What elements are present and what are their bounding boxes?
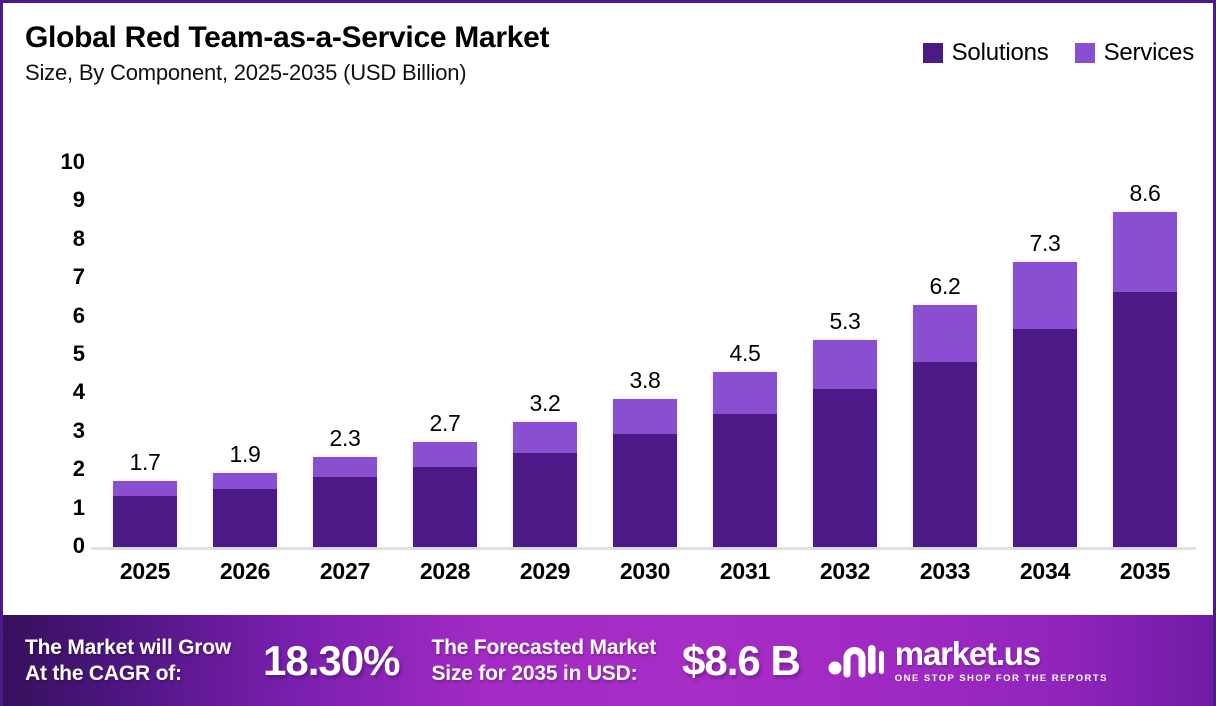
- x-axis-tick-2033: 2033: [900, 558, 990, 585]
- bar-stack-2026[interactable]: [213, 473, 277, 547]
- bar-group-2026[interactable]: 1.9: [200, 133, 290, 547]
- bar-stack-2034[interactable]: [1013, 262, 1077, 547]
- y-axis: 109876543210: [43, 133, 85, 558]
- logo-tagline: ONE STOP SHOP FOR THE REPORTS: [895, 674, 1108, 684]
- bar-segment-solutions-2034[interactable]: [1013, 329, 1077, 547]
- bar-stack-2025[interactable]: [113, 481, 177, 547]
- bar-segment-services-2025[interactable]: [113, 481, 177, 497]
- forecast-caption-line2: Size for 2035 in USD:: [432, 661, 657, 687]
- bar-value-label-2029: 3.2: [529, 392, 560, 415]
- y-axis-tick-10: 10: [61, 151, 85, 173]
- bar-group-2035[interactable]: 8.6: [1100, 133, 1190, 547]
- bar-segment-services-2028[interactable]: [413, 442, 477, 467]
- bar-value-label-2035: 8.6: [1129, 182, 1160, 205]
- chart-plot-area: 109876543210 1.71.92.32.73.23.84.55.36.2…: [3, 133, 1216, 603]
- chart-legend: Solutions Services: [923, 39, 1194, 67]
- bar-segment-solutions-2030[interactable]: [613, 434, 677, 547]
- bar-group-2028[interactable]: 2.7: [400, 133, 490, 547]
- bar-value-label-2027: 2.3: [329, 427, 360, 450]
- bar-value-label-2028: 2.7: [429, 412, 460, 435]
- bar-stack-2030[interactable]: [613, 399, 677, 547]
- bar-series-container: 1.71.92.32.73.23.84.55.36.27.38.6: [95, 133, 1195, 547]
- y-axis-tick-2: 2: [73, 458, 85, 480]
- y-axis-tick-4: 4: [73, 381, 85, 403]
- x-axis-tick-2032: 2032: [800, 558, 890, 585]
- x-axis-baseline: [91, 547, 1196, 550]
- market-us-logo[interactable]: market.us ONE STOP SHOP FOR THE REPORTS: [828, 637, 1108, 684]
- forecast-caption: The Forecasted Market Size for 2035 in U…: [432, 635, 657, 686]
- y-axis-tick-3: 3: [73, 420, 85, 442]
- chart-header: Global Red Team-as-a-Service Market Size…: [3, 3, 1216, 123]
- bar-segment-solutions-2026[interactable]: [213, 489, 277, 548]
- bar-segment-services-2032[interactable]: [813, 340, 877, 389]
- legend-swatch-solutions: [923, 43, 943, 63]
- bar-value-label-2025: 1.7: [129, 451, 160, 474]
- bar-segment-services-2033[interactable]: [913, 305, 977, 362]
- page-title: Global Red Team-as-a-Service Market: [25, 21, 549, 56]
- logo-wordmark: market.us: [895, 637, 1040, 670]
- x-axis-tick-2034: 2034: [1000, 558, 1090, 585]
- cagr-caption: The Market will Grow At the CAGR of:: [25, 635, 231, 686]
- bar-segment-solutions-2032[interactable]: [813, 389, 877, 547]
- x-axis-tick-2030: 2030: [600, 558, 690, 585]
- x-axis-tick-2025: 2025: [100, 558, 190, 585]
- forecast-value: $8.6 B: [682, 637, 800, 685]
- bar-group-2034[interactable]: 7.3: [1000, 133, 1090, 547]
- chart-infographic: Global Red Team-as-a-Service Market Size…: [0, 0, 1216, 706]
- bar-value-label-2033: 6.2: [929, 275, 960, 298]
- y-axis-tick-7: 7: [73, 266, 85, 288]
- bar-value-label-2031: 4.5: [729, 342, 760, 365]
- legend-item-services[interactable]: Services: [1075, 39, 1194, 67]
- bar-segment-solutions-2033[interactable]: [913, 362, 977, 547]
- legend-label-solutions: Solutions: [952, 39, 1049, 67]
- bar-group-2027[interactable]: 2.3: [300, 133, 390, 547]
- bar-group-2030[interactable]: 3.8: [600, 133, 690, 547]
- y-axis-tick-6: 6: [73, 305, 85, 327]
- bar-segment-services-2034[interactable]: [1013, 262, 1077, 328]
- y-axis-tick-5: 5: [73, 343, 85, 365]
- bar-stack-2029[interactable]: [513, 422, 577, 547]
- bar-stack-2035[interactable]: [1113, 212, 1177, 547]
- bar-segment-services-2030[interactable]: [613, 399, 677, 434]
- logo-text-block: market.us ONE STOP SHOP FOR THE REPORTS: [895, 637, 1108, 684]
- bar-stack-2028[interactable]: [413, 442, 477, 547]
- legend-label-services: Services: [1104, 39, 1194, 67]
- bar-segment-solutions-2031[interactable]: [713, 414, 777, 547]
- bar-group-2029[interactable]: 3.2: [500, 133, 590, 547]
- bar-value-label-2034: 7.3: [1029, 232, 1060, 255]
- page-subtitle: Size, By Component, 2025-2035 (USD Billi…: [25, 60, 549, 85]
- bar-segment-services-2027[interactable]: [313, 457, 377, 477]
- y-axis-tick-9: 9: [73, 189, 85, 211]
- bar-group-2025[interactable]: 1.7: [100, 133, 190, 547]
- y-axis-tick-1: 1: [73, 497, 85, 519]
- bar-value-label-2026: 1.9: [229, 443, 260, 466]
- cagr-value: 18.30%: [263, 637, 399, 685]
- bar-group-2032[interactable]: 5.3: [800, 133, 890, 547]
- bar-segment-solutions-2027[interactable]: [313, 477, 377, 547]
- y-axis-tick-8: 8: [73, 228, 85, 250]
- bar-segment-solutions-2025[interactable]: [113, 496, 177, 547]
- title-block: Global Red Team-as-a-Service Market Size…: [25, 21, 549, 85]
- x-axis: 2025202620272028202920302031203220332034…: [95, 558, 1195, 585]
- summary-banner: The Market will Grow At the CAGR of: 18.…: [3, 615, 1216, 706]
- bar-stack-2027[interactable]: [313, 457, 377, 547]
- bar-segment-services-2035[interactable]: [1113, 212, 1177, 292]
- cagr-caption-line1: The Market will Grow: [25, 635, 231, 661]
- bar-group-2031[interactable]: 4.5: [700, 133, 790, 547]
- x-axis-tick-2031: 2031: [700, 558, 790, 585]
- bar-segment-services-2029[interactable]: [513, 422, 577, 453]
- bar-value-label-2030: 3.8: [629, 369, 660, 392]
- legend-item-solutions[interactable]: Solutions: [923, 39, 1049, 67]
- market-us-bars-icon: [828, 638, 884, 683]
- bar-segment-services-2031[interactable]: [713, 372, 777, 415]
- x-axis-tick-2026: 2026: [200, 558, 290, 585]
- x-axis-tick-2029: 2029: [500, 558, 590, 585]
- x-axis-tick-2028: 2028: [400, 558, 490, 585]
- forecast-caption-line1: The Forecasted Market: [432, 635, 657, 661]
- bar-segment-solutions-2029[interactable]: [513, 453, 577, 547]
- cagr-caption-line2: At the CAGR of:: [25, 661, 231, 687]
- bar-stack-2032[interactable]: [813, 340, 877, 547]
- x-axis-tick-2035: 2035: [1100, 558, 1190, 585]
- bar-segment-solutions-2028[interactable]: [413, 467, 477, 547]
- bar-stack-2031[interactable]: [713, 372, 777, 547]
- bar-segment-solutions-2035[interactable]: [1113, 292, 1177, 547]
- y-axis-tick-0: 0: [73, 535, 85, 557]
- bar-value-label-2032: 5.3: [829, 310, 860, 333]
- bar-segment-services-2026[interactable]: [213, 473, 277, 489]
- bar-group-2033[interactable]: 6.2: [900, 133, 990, 547]
- x-axis-tick-2027: 2027: [300, 558, 390, 585]
- legend-swatch-services: [1075, 43, 1095, 63]
- bar-stack-2033[interactable]: [913, 305, 977, 547]
